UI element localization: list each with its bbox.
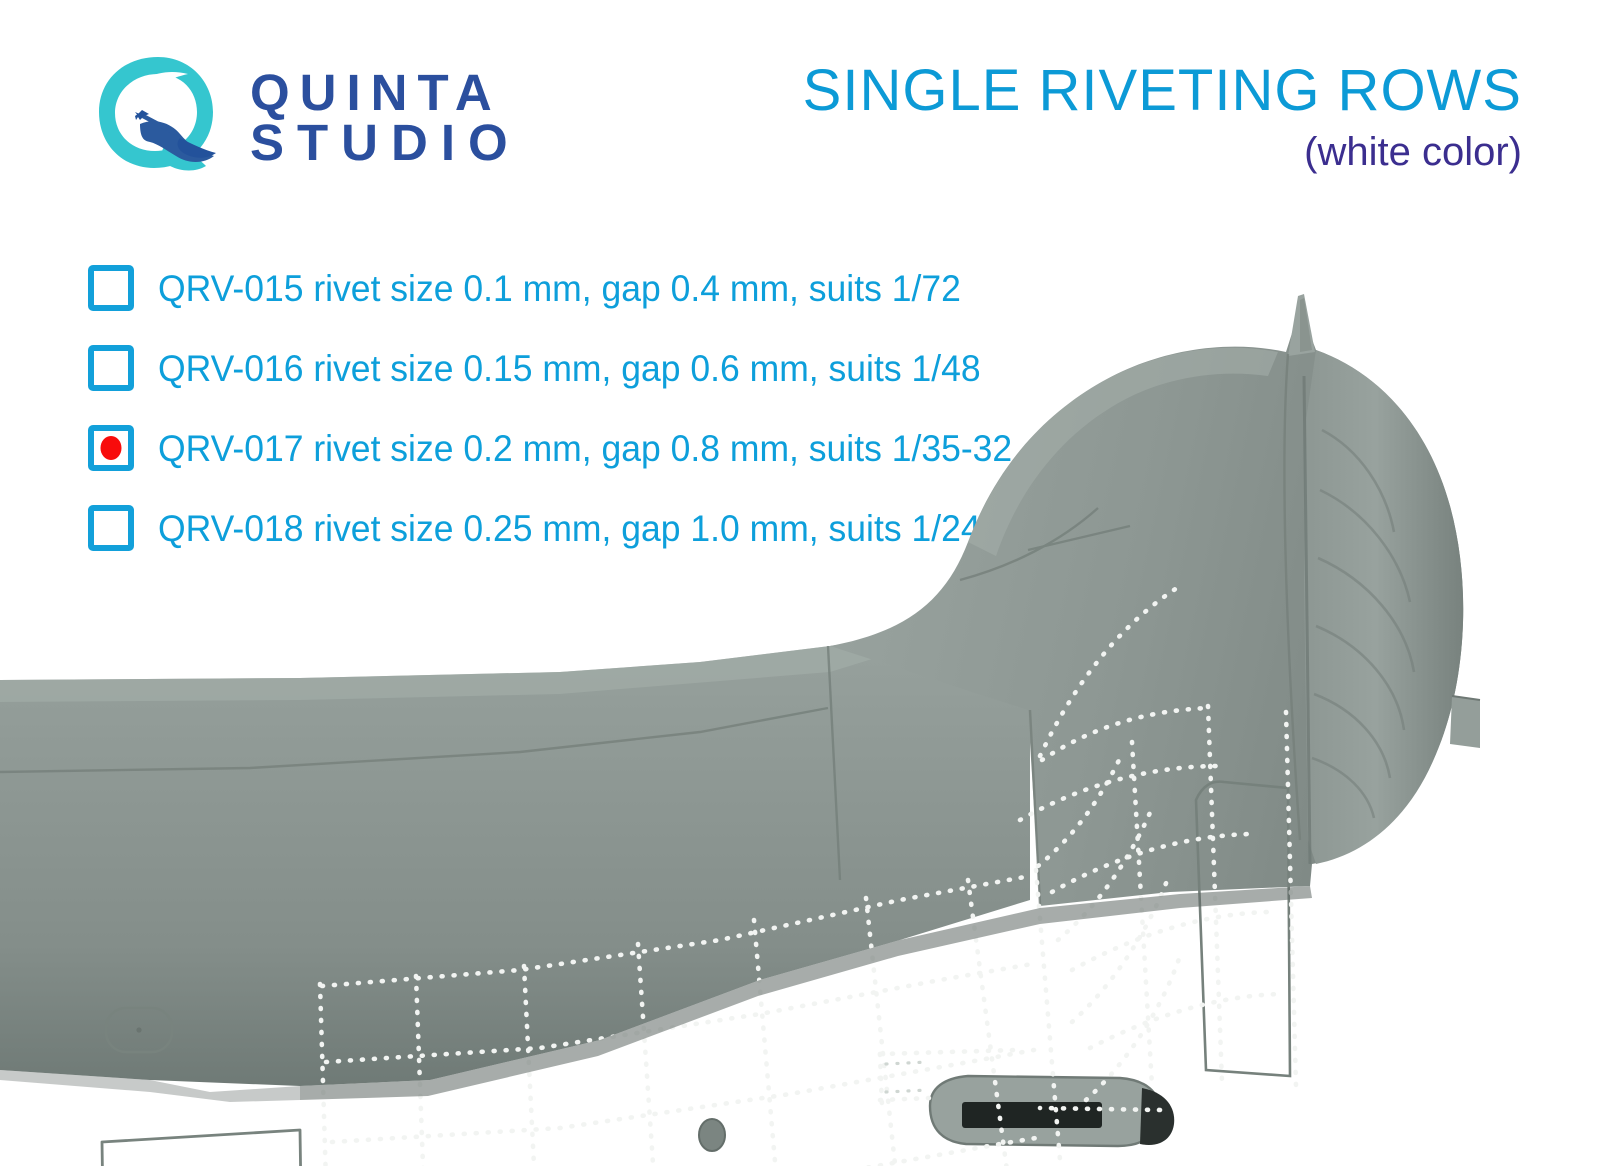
product-photo (0, 280, 1600, 1166)
rudder (1304, 350, 1480, 864)
quinta-q-swirl-jet-icon (92, 52, 224, 184)
header: QUINTA STUDIO SINGLE RIVETING ROWS (whit… (0, 0, 1600, 230)
model-aircraft-tail-photo (0, 280, 1600, 1166)
antenna-mast (1288, 294, 1315, 356)
product-label-page: QUINTA STUDIO SINGLE RIVETING ROWS (whit… (0, 0, 1600, 1166)
title-block: SINGLE RIVETING ROWS (white color) (803, 62, 1522, 172)
brand-wordmark: QUINTA STUDIO (250, 68, 521, 168)
large-access-panel (102, 1130, 302, 1166)
brand-line-2: STUDIO (250, 118, 521, 168)
brand-logo: QUINTA STUDIO (92, 52, 521, 184)
page-title: SINGLE RIVETING ROWS (803, 62, 1522, 120)
page-subtitle: (white color) (803, 132, 1522, 172)
brand-line-1: QUINTA (250, 68, 521, 118)
locating-holes (699, 1119, 725, 1151)
